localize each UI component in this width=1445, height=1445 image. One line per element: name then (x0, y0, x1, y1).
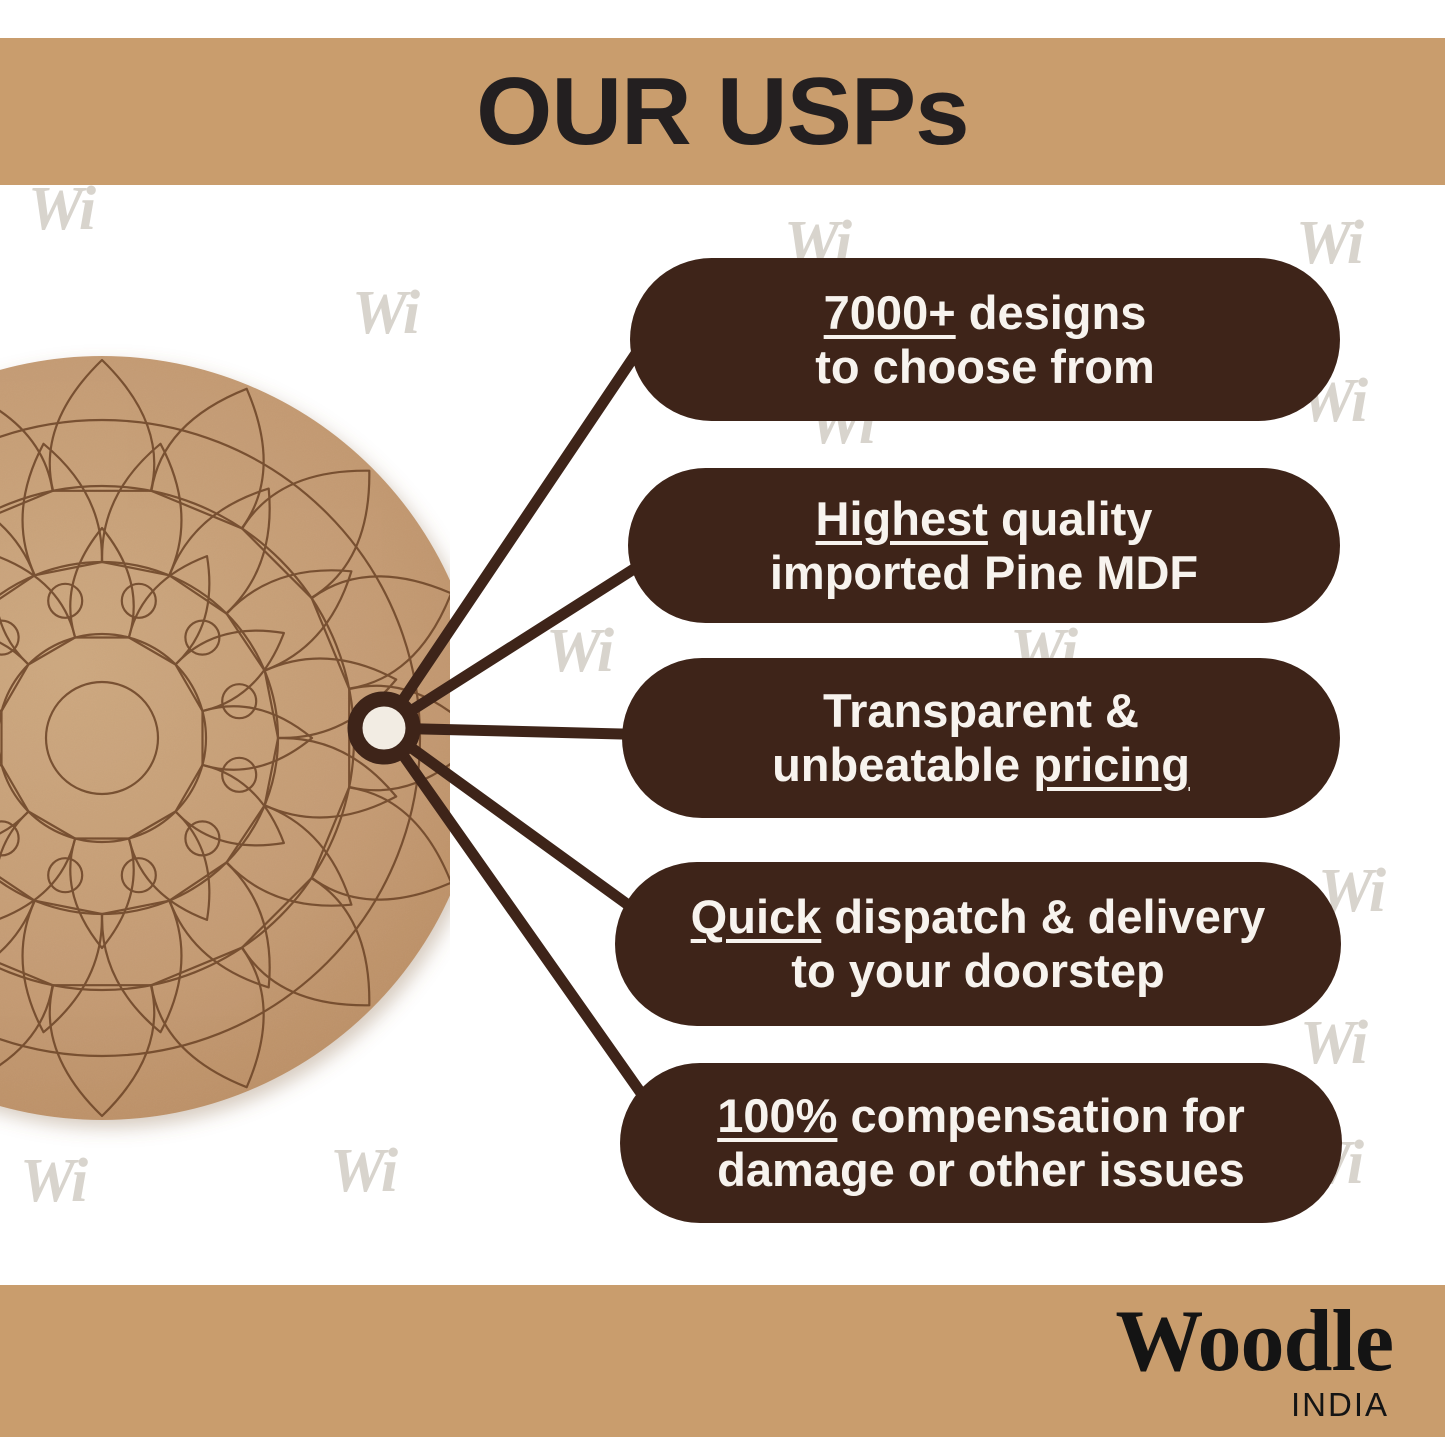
usp-text-5: 100% compensation fordamage or other iss… (646, 1089, 1316, 1196)
infographic-canvas: WiWiWiWiWiWiWiWiWiWiWiWiWi (0, 0, 1445, 1445)
usp-pill-3: Transparent &unbeatable pricing (622, 658, 1340, 818)
mdf-grain-texture (0, 356, 450, 1120)
brand-name: Woodle (1115, 1300, 1393, 1384)
usp-text-2: Highest qualityimported Pine MDF (654, 492, 1314, 599)
usp-pill-2: Highest qualityimported Pine MDF (628, 468, 1340, 623)
usp-text-1: 7000+ designsto choose from (656, 286, 1314, 393)
usp-text-3: Transparent &unbeatable pricing (648, 684, 1314, 791)
usp-pill-1: 7000+ designsto choose from (630, 258, 1340, 421)
product-image-mandala-mdf (0, 295, 450, 1215)
watermark-wi-7: Wi (546, 620, 612, 682)
usp-pill-4: Quick dispatch & deliveryto your doorste… (615, 862, 1341, 1026)
brand-logo: Woodle INDIA (1115, 1300, 1393, 1424)
page-title: OUR USPs (476, 64, 968, 160)
watermark-wi-1: Wi (28, 178, 94, 240)
watermark-wi-13: Wi (1300, 1012, 1366, 1074)
watermark-wi-4: Wi (1296, 212, 1362, 274)
header-band: OUR USPs (0, 38, 1445, 185)
usp-text-4: Quick dispatch & deliveryto your doorste… (641, 890, 1315, 997)
usp-pill-5: 100% compensation fordamage or other iss… (620, 1063, 1342, 1223)
brand-sub: INDIA (1115, 1386, 1389, 1424)
